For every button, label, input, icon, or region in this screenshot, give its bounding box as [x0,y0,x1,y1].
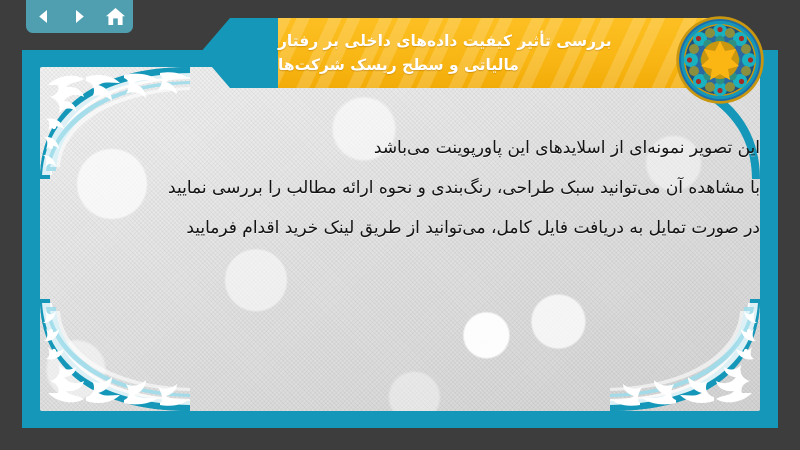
body-line-2: با مشاهده آن می‌توانید سبک طراحی، رنگ‌بن… [60,168,760,208]
forward-button[interactable] [64,4,94,30]
forward-arrow-icon [71,8,88,25]
back-button[interactable] [29,4,59,30]
home-icon [105,7,126,26]
back-arrow-icon [35,8,52,25]
title-line-1: بررسی تأثیر کیفیت داده‌های داخلی بر رفتا… [278,29,612,53]
home-button[interactable] [100,4,130,30]
slide-body-text: این تصویر نمونه‌ای از اسلایدهای این پاور… [60,128,760,248]
body-line-3: در صورت تمایل به دریافت فایل کامل، می‌تو… [60,208,760,248]
body-line-1: این تصویر نمونه‌ای از اسلایدهای این پاور… [60,128,760,168]
navigation-bar [26,0,133,33]
title-banner: بررسی تأثیر کیفیت داده‌های داخلی بر رفتا… [200,18,720,88]
page-title: بررسی تأثیر کیفیت داده‌های داخلی بر رفتا… [278,18,708,88]
slide-viewer: بررسی تأثیر کیفیت داده‌های داخلی بر رفتا… [0,0,800,450]
title-line-2: مالیاتی و سطح ریسک شرکت‌ها [278,53,519,77]
ribbon-tail [200,18,286,88]
ornamental-medallion-icon [676,16,764,104]
